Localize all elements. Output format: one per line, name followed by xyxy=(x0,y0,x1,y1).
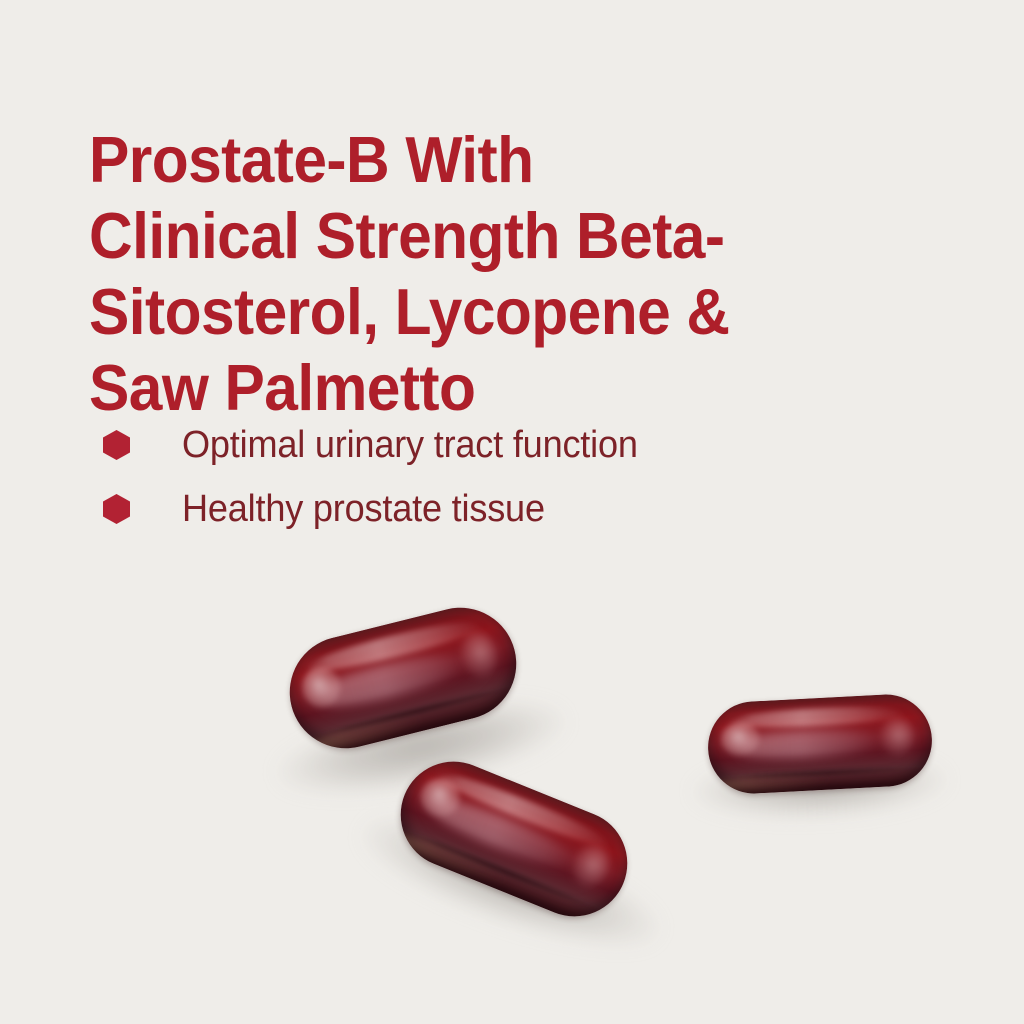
product-marketing-image: Prostate-B With Clinical Strength Beta- … xyxy=(0,0,1024,1024)
hexagon-bullet-icon xyxy=(103,430,130,460)
capsule-highlight xyxy=(879,717,914,756)
benefit-label: Healthy prostate tissue xyxy=(182,488,545,530)
benefit-label: Optimal urinary tract function xyxy=(182,424,638,466)
product-photo xyxy=(0,560,1024,1024)
hexagon-bullet-icon xyxy=(103,494,130,524)
list-item: Healthy prostate tissue xyxy=(103,477,903,541)
benefits-list: Optimal urinary tract function Healthy p… xyxy=(103,413,903,541)
capsule-right xyxy=(706,692,935,796)
list-item: Optimal urinary tract function xyxy=(103,413,903,477)
capsule-highlight xyxy=(567,839,616,892)
page-title: Prostate-B With Clinical Strength Beta- … xyxy=(89,122,861,426)
